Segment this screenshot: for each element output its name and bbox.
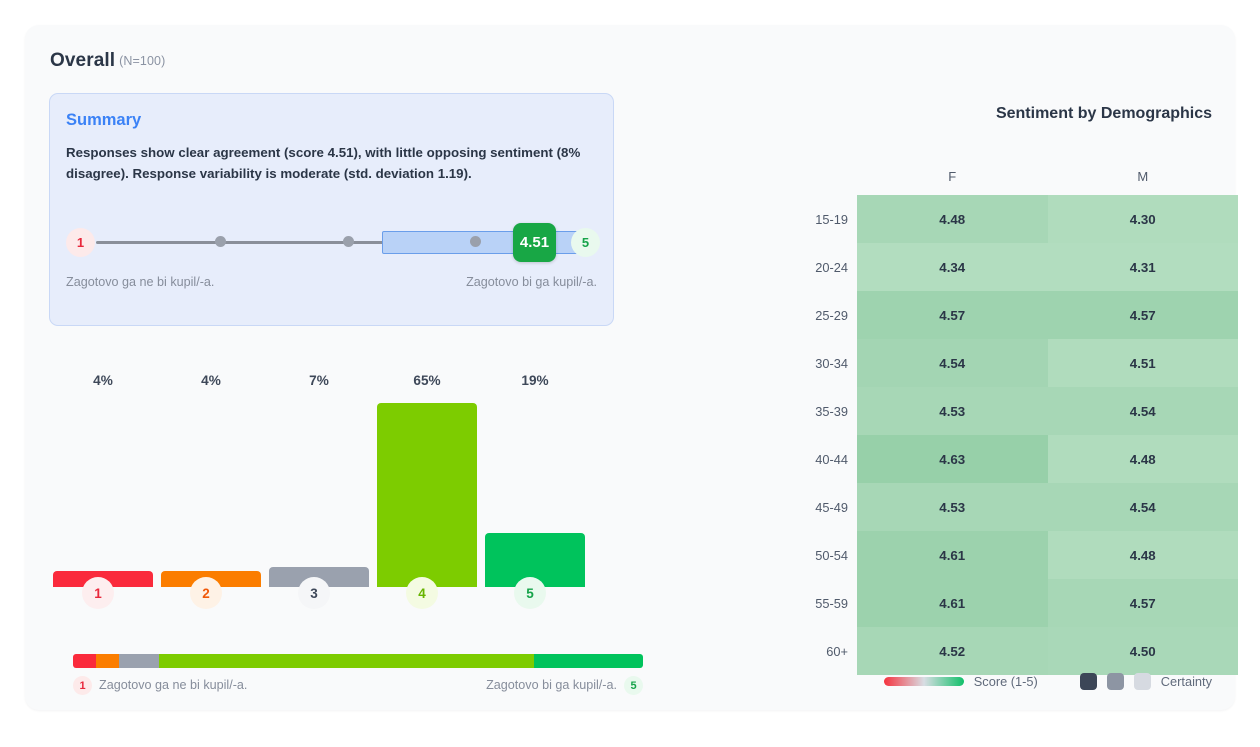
heatmap-column-header-F: F	[857, 169, 1048, 187]
heatmap-row-label-50-54: 50-54	[795, 531, 848, 579]
score-legend-label: Score (1-5)	[974, 674, 1038, 689]
heatmap-cell[interactable]: 4.54	[857, 339, 1048, 387]
heatmap-cell[interactable]: 4.31	[1048, 243, 1239, 291]
heatmap-row-label-15-19: 15-19	[795, 195, 848, 243]
gauge-mean-badge: 4.51	[513, 223, 556, 262]
summary-text: Responses show clear agreement (score 4.…	[66, 142, 606, 184]
stacked-anchor-low: Zagotovo ga ne bi kupil/-a.	[99, 678, 247, 692]
heatmap-row-label-45-49: 45-49	[795, 483, 848, 531]
stacked-segment-3[interactable]	[119, 654, 159, 668]
stacked-segment-1[interactable]	[73, 654, 96, 668]
gauge-anchor-low: Zagotovo ga ne bi kupil/-a.	[66, 275, 214, 289]
bar-value-label: 7%	[265, 373, 373, 388]
distribution-bar-chart: 4%14%27%365%419%5	[49, 355, 643, 625]
certainty-swatch-low	[1134, 673, 1151, 690]
gauge-tick-4	[470, 236, 481, 247]
app-root: Overall(N=100) Summary Responses show cl…	[0, 0, 1260, 747]
heatmap-row-label-60+: 60+	[795, 627, 848, 675]
heatmap-row-label-35-39: 35-39	[795, 387, 848, 435]
stacked-segment-5[interactable]	[534, 654, 643, 668]
demographics-heatmap: FM15-194.484.3020-244.344.3125-294.574.5…	[795, 155, 1240, 675]
heatmap-cell[interactable]: 4.48	[1048, 531, 1239, 579]
bar-rect[interactable]	[377, 403, 477, 587]
heatmap-cell[interactable]: 4.57	[1048, 291, 1239, 339]
stacked-chip-low: 1	[73, 676, 92, 695]
heatmap-cell[interactable]: 4.53	[857, 387, 1048, 435]
summary-title: Summary	[66, 111, 141, 130]
bar-group-2[interactable]: 4%2	[157, 355, 265, 625]
certainty-swatch-high	[1080, 673, 1097, 690]
bar-group-5[interactable]: 19%5	[481, 355, 589, 625]
heatmap-cell[interactable]: 4.48	[1048, 435, 1239, 483]
heatmap-cell[interactable]: 4.52	[857, 627, 1048, 675]
heatmap-row-label-30-34: 30-34	[795, 339, 848, 387]
bar-category-chip-5: 5	[514, 577, 546, 609]
stacked-bar-legend: 1 Zagotovo ga ne bi kupil/-a. Zagotovo b…	[73, 676, 643, 696]
summary-panel: Summary Responses show clear agreement (…	[49, 93, 614, 326]
heatmap-row-label-55-59: 55-59	[795, 579, 848, 627]
sample-size-label: (N=100)	[119, 54, 165, 68]
stacked-anchor-high: Zagotovo bi ga kupil/-a.	[486, 678, 617, 692]
chart-legend: Score (1-5) Certainty	[884, 670, 1212, 692]
heatmap-cell[interactable]: 4.48	[857, 195, 1048, 243]
heatmap-cell[interactable]: 4.61	[857, 579, 1048, 627]
bar-value-label: 19%	[481, 373, 589, 388]
score-gradient-swatch	[884, 677, 964, 686]
stacked-distribution-bar	[73, 654, 643, 668]
gauge-min-chip: 1	[66, 228, 95, 257]
heatmap-row-label-40-44: 40-44	[795, 435, 848, 483]
heatmap-cell[interactable]: 4.57	[1048, 579, 1239, 627]
stacked-segment-4[interactable]	[159, 654, 533, 668]
stacked-segment-2[interactable]	[96, 654, 119, 668]
heatmap-column-header-M: M	[1048, 169, 1239, 187]
bar-value-label: 4%	[49, 373, 157, 388]
bar-group-3[interactable]: 7%3	[265, 355, 373, 625]
heatmap-cell[interactable]: 4.30	[1048, 195, 1239, 243]
bar-value-label: 4%	[157, 373, 265, 388]
bar-value-label: 65%	[373, 373, 481, 388]
bar-group-1[interactable]: 4%1	[49, 355, 157, 625]
heatmap-cell[interactable]: 4.50	[1048, 627, 1239, 675]
gauge-max-chip: 5	[571, 228, 600, 257]
bar-group-4[interactable]: 65%4	[373, 355, 481, 625]
heatmap-cell[interactable]: 4.57	[857, 291, 1048, 339]
bar-category-chip-3: 3	[298, 577, 330, 609]
gauge-tick-2	[215, 236, 226, 247]
certainty-legend-label: Certainty	[1161, 674, 1212, 689]
page-title: Overall(N=100)	[50, 50, 165, 72]
bar-category-chip-1: 1	[82, 577, 114, 609]
stacked-chip-high: 5	[624, 676, 643, 695]
certainty-swatch-mid	[1107, 673, 1124, 690]
gauge-tick-3	[343, 236, 354, 247]
heatmap-row-label-25-29: 25-29	[795, 291, 848, 339]
score-gauge[interactable]: 1 5 4.51	[66, 223, 600, 263]
heatmap-cell[interactable]: 4.63	[857, 435, 1048, 483]
heatmap-cell[interactable]: 4.54	[1048, 483, 1239, 531]
heatmap-cell[interactable]: 4.34	[857, 243, 1048, 291]
bar-category-chip-2: 2	[190, 577, 222, 609]
heatmap-cell[interactable]: 4.61	[857, 531, 1048, 579]
heatmap-cell[interactable]: 4.54	[1048, 387, 1239, 435]
heatmap-title: Sentiment by Demographics	[996, 105, 1212, 123]
bar-category-chip-4: 4	[406, 577, 438, 609]
heatmap-cell[interactable]: 4.53	[857, 483, 1048, 531]
heatmap-cell[interactable]: 4.51	[1048, 339, 1239, 387]
page-title-text: Overall	[50, 50, 115, 71]
gauge-anchor-high: Zagotovo bi ga kupil/-a.	[466, 275, 597, 289]
heatmap-row-label-20-24: 20-24	[795, 243, 848, 291]
report-card: Overall(N=100) Summary Responses show cl…	[25, 25, 1235, 710]
